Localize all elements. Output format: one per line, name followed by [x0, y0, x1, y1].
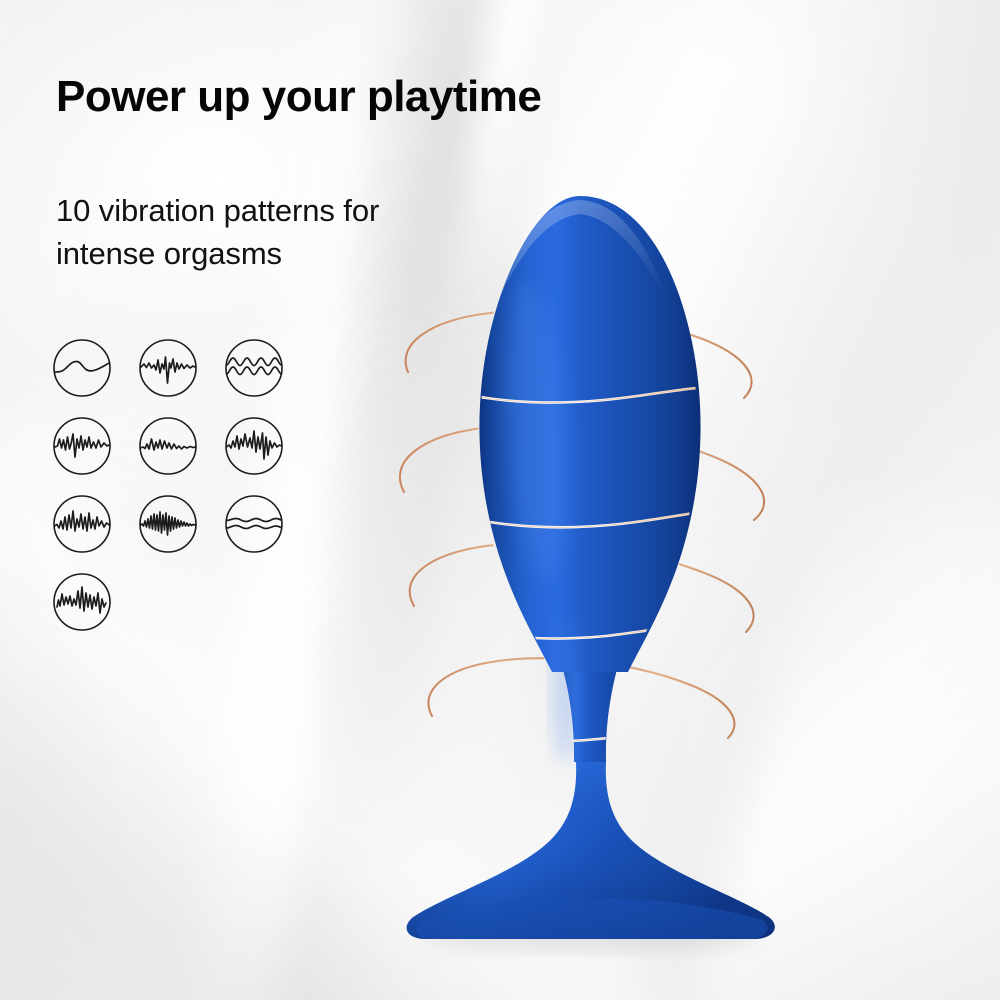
page-title: Power up your playtime — [56, 74, 541, 120]
pattern-ripple-icon — [139, 417, 197, 475]
pattern-gentle-ripple-icon — [225, 495, 283, 553]
pattern-escalating-icon — [53, 573, 111, 631]
pattern-spike-icon — [53, 495, 111, 553]
pattern-double-sine-icon — [225, 339, 283, 397]
pattern-pulse-wave-icon — [139, 339, 197, 397]
pattern-surge-icon — [225, 417, 283, 475]
pattern-rolling-peaks-icon — [53, 417, 111, 475]
page-subtitle-line-1: 10 vibration patterns for — [56, 190, 379, 233]
vibration-pattern-grid — [53, 339, 313, 651]
pattern-slow-wave-icon — [53, 339, 111, 397]
page-subtitle-line-2: intense orgasms — [56, 233, 379, 276]
product-feature-banner: Power up your playtime 10 vibration patt… — [0, 0, 1000, 1000]
page-subtitle: 10 vibration patterns for intense orgasm… — [56, 190, 379, 276]
pattern-rapid-burst-icon — [139, 495, 197, 553]
